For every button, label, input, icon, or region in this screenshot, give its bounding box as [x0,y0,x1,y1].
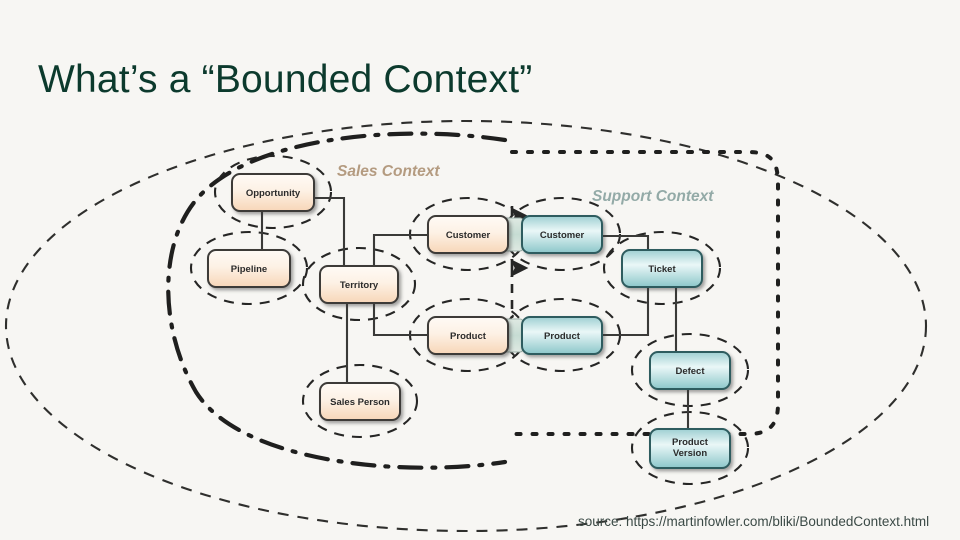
node-sales-person [320,383,400,420]
slide-canvas: What’s a “Bounded Context” [0,0,960,540]
sales-context-nodes [208,174,508,420]
node-ticket [622,250,702,287]
node-defect [650,352,730,389]
support-context-label: Support Context [592,188,713,206]
link-territory-product [374,303,428,335]
link-customer-ticket [602,236,648,250]
source-citation: source: https://martinfowler.com/bliki/B… [578,514,929,529]
node-territory [320,266,398,303]
node-product-version [650,429,730,468]
bounded-context-diagram [0,0,960,540]
node-product-sales [428,317,508,354]
node-pipeline [208,250,290,287]
support-context-nodes [522,216,730,468]
node-customer-support [522,216,602,253]
node-opportunity [232,174,314,211]
node-product-support [522,317,602,354]
link-product-ticket [602,287,648,335]
node-customer-sales [428,216,508,253]
link-opportunity-territory [314,198,344,266]
sales-context-label: Sales Context [337,163,440,181]
